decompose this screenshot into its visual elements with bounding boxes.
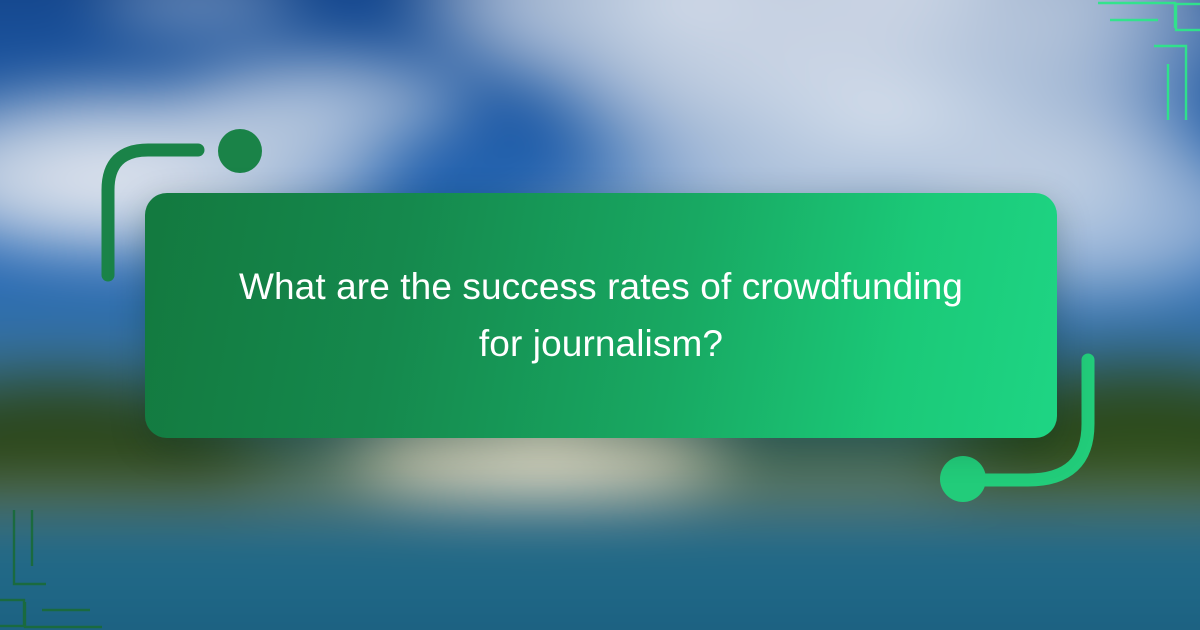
share-card-canvas: What are the success rates of crowdfundi… xyxy=(0,0,1200,630)
cloud-shape xyxy=(165,45,483,162)
question-title: What are the success rates of crowdfundi… xyxy=(145,259,1057,371)
accent-dot-top-left xyxy=(218,129,262,173)
accent-dot-bottom-right xyxy=(940,456,986,502)
question-card: What are the success rates of crowdfundi… xyxy=(145,193,1057,438)
water-band xyxy=(0,509,1200,630)
